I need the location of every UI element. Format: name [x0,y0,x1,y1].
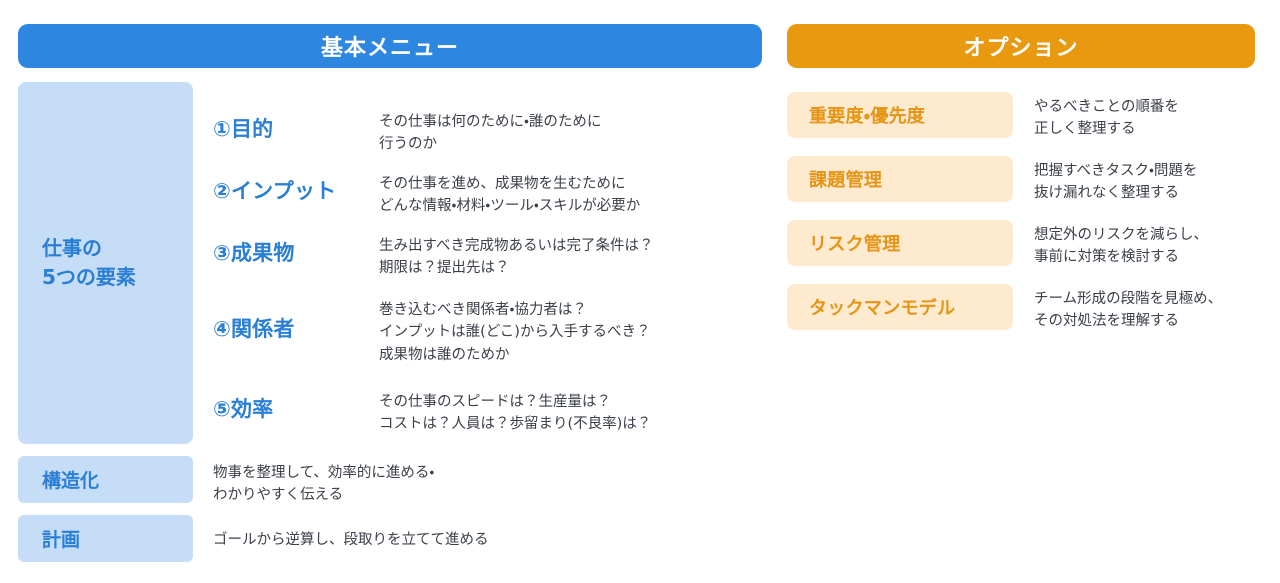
option-chip-label-priority: 重要度・優先度 [809,102,925,128]
option-chip-risk-management: リスク管理 [787,220,1013,266]
option-desc-issue-management: 把握すべきタスク・問題を 抜け漏れなく整理する [1034,156,1197,205]
option-chip-issue-management: 課題管理 [787,156,1013,202]
option-row: 重要度・優先度 やるべきことの順番を 正しく整理する [787,92,1179,141]
option-chip-label-issue-management: 課題管理 [809,166,882,192]
option-row: タックマンモデル チーム形成の段階を見極め、 その対処法を理解する [787,284,1222,333]
option-chip-label-risk-management: リスク管理 [809,230,901,256]
option-desc-priority: やるべきことの順番を 正しく整理する [1034,92,1179,141]
option-row: リスク管理 想定外のリスクを減らし、 事前に対策を検討する [787,220,1208,269]
option-chip-tuckman-model: タックマンモデル [787,284,1013,330]
option-desc-tuckman-model: チーム形成の段階を見極め、 その対処法を理解する [1034,284,1222,333]
option-column: 重要度・優先度 やるべきことの順番を 正しく整理する 課題管理 把握すべきタスク… [0,0,1280,583]
option-desc-risk-management: 想定外のリスクを減らし、 事前に対策を検討する [1034,220,1208,269]
option-row: 課題管理 把握すべきタスク・問題を 抜け漏れなく整理する [787,156,1197,205]
option-chip-priority: 重要度・優先度 [787,92,1013,138]
slide-canvas: 基本メニュー オプション 仕事の 5つの要素 ①目的 その仕事は何のために・誰の… [0,0,1280,583]
option-chip-label-tuckman-model: タックマンモデル [809,294,955,320]
